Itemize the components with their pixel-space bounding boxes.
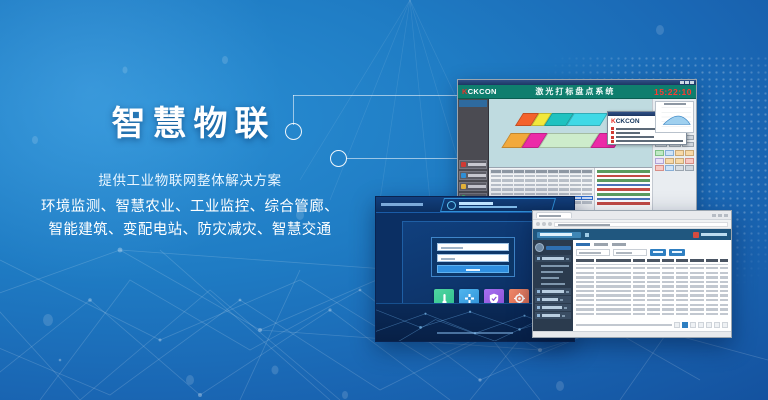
- icon-button[interactable]: [665, 158, 674, 164]
- pagination-summary: [576, 324, 672, 326]
- log-line: [597, 193, 650, 196]
- ckcon-logo: KCKCON: [462, 87, 497, 96]
- table-row[interactable]: [576, 290, 728, 292]
- log-line: [597, 188, 650, 191]
- status-icon-blue: [461, 173, 466, 178]
- icon-button[interactable]: [655, 158, 664, 164]
- browser-tab[interactable]: [536, 212, 572, 218]
- topbar-left-label: [381, 203, 423, 206]
- log-line: [597, 202, 650, 205]
- page-1[interactable]: [682, 322, 688, 328]
- icon-button[interactable]: [665, 165, 674, 171]
- reset-button[interactable]: [669, 249, 685, 256]
- tab-history[interactable]: [612, 243, 626, 246]
- table-row[interactable]: [576, 294, 728, 296]
- table-row[interactable]: [576, 313, 728, 315]
- browser-sidebar[interactable]: [533, 240, 573, 331]
- table-row[interactable]: [576, 272, 728, 274]
- banner-line-1: 环境监测、智慧农业、工业监控、综合管廊、: [0, 196, 380, 219]
- nav-group-device[interactable]: [535, 255, 571, 287]
- page-5[interactable]: [714, 322, 720, 328]
- system-title: 激光打标盘点系统: [535, 86, 615, 97]
- reload-icon[interactable]: [548, 222, 552, 226]
- bullet-icon: [611, 140, 614, 143]
- platform-name: [459, 202, 493, 205]
- icon-button[interactable]: [655, 150, 664, 156]
- laser-control-panel[interactable]: [652, 99, 696, 214]
- sidebar-button-2[interactable]: [459, 171, 487, 180]
- sidebar-header: [459, 100, 487, 107]
- back-icon[interactable]: [536, 222, 540, 226]
- username-input[interactable]: [437, 243, 509, 251]
- chevron-right-icon: [564, 307, 567, 309]
- browser-statusbar: [533, 331, 731, 337]
- app-header: KCKCON 激光打标盘点系统 15:22:10: [458, 85, 696, 99]
- page-4[interactable]: [706, 322, 712, 328]
- chevron-right-icon: [566, 291, 569, 293]
- log-line: [597, 175, 650, 178]
- folder-icon: [537, 290, 540, 293]
- dialog-row: [608, 136, 686, 139]
- tab-list[interactable]: [576, 243, 590, 246]
- table-row[interactable]: [576, 285, 728, 287]
- query-button[interactable]: [650, 249, 666, 256]
- current-user[interactable]: [693, 232, 727, 238]
- chevron-right-icon: [562, 315, 565, 317]
- dialog-row: [608, 140, 686, 143]
- forward-icon[interactable]: [542, 222, 546, 226]
- event-log-panel[interactable]: [594, 168, 652, 214]
- table-row[interactable]: [576, 304, 728, 306]
- icon-button[interactable]: [675, 150, 684, 156]
- log-line: [597, 179, 650, 182]
- table-row[interactable]: [576, 299, 728, 301]
- folder-icon: [537, 306, 540, 309]
- logo-text: CKCON: [468, 87, 497, 96]
- table-header: [576, 259, 728, 265]
- clock-display: 15:22:10: [654, 87, 692, 97]
- monitor-browser[interactable]: [532, 210, 732, 338]
- bullet-icon: [611, 131, 614, 134]
- app-topbar: [533, 229, 731, 240]
- folder-icon: [537, 314, 540, 317]
- page-3[interactable]: [698, 322, 704, 328]
- monitor-laser-system[interactable]: KCKCON 激光打标盘点系统 15:22:10: [457, 79, 697, 215]
- app-brand-badge: [537, 232, 581, 238]
- nav-group-data[interactable]: [535, 288, 571, 295]
- icon-button[interactable]: [675, 165, 684, 171]
- address-bar[interactable]: [533, 220, 731, 229]
- bullet-icon: [611, 136, 614, 139]
- user-profile[interactable]: [535, 243, 571, 252]
- promo-banner: 智慧物联 提供工业物联网整体解决方案 环境监测、智慧农业、工业监控、综合管廊、 …: [0, 0, 768, 400]
- icon-button[interactable]: [685, 165, 694, 171]
- page-2[interactable]: [690, 322, 696, 328]
- icon-button[interactable]: [655, 165, 664, 171]
- nav-group-system[interactable]: [535, 312, 571, 319]
- table-row[interactable]: [576, 267, 728, 269]
- avatar: [693, 232, 699, 238]
- banner-subtitle: 提供工业物联网整体解决方案: [0, 169, 380, 189]
- page-next[interactable]: [722, 322, 728, 328]
- page-prev[interactable]: [674, 322, 680, 328]
- icon-button[interactable]: [685, 150, 694, 156]
- close-icon[interactable]: [724, 214, 728, 217]
- data-table[interactable]: [576, 259, 728, 320]
- user-name: [701, 233, 727, 236]
- browser-chrome: [533, 211, 731, 220]
- folder-icon: [537, 298, 540, 301]
- trend-chart: [655, 101, 694, 133]
- banner-copy: 智慧物联 提供工业物联网整体解决方案 环境监测、智慧农业、工业监控、综合管廊、 …: [0, 96, 380, 243]
- log-line: [597, 198, 650, 201]
- nav-item[interactable]: [535, 281, 571, 287]
- tab-detail[interactable]: [594, 243, 608, 246]
- login-form[interactable]: [431, 237, 515, 277]
- table-row[interactable]: [576, 308, 728, 310]
- close-icon[interactable]: [690, 81, 694, 84]
- log-line: [597, 170, 650, 173]
- maximize-icon[interactable]: [718, 214, 722, 217]
- address-input[interactable]: [554, 222, 728, 227]
- table-row[interactable]: [576, 276, 728, 278]
- icon-button-grid[interactable]: [655, 150, 694, 171]
- minimize-icon[interactable]: [680, 81, 684, 84]
- gear-icon: [447, 201, 456, 210]
- bullet-icon: [611, 127, 614, 130]
- layout-stage: KCKCON: [489, 99, 652, 167]
- status-icon-red: [461, 162, 466, 167]
- page-title: 智慧物联: [0, 96, 380, 145]
- password-input[interactable]: [437, 254, 509, 262]
- status-icon-yellow: [461, 184, 466, 189]
- content-tabs[interactable]: [576, 243, 728, 246]
- search-input-2[interactable]: [613, 249, 647, 256]
- chevron-down-icon: [566, 258, 569, 260]
- filter-toolbar[interactable]: [576, 249, 728, 256]
- profile-label: [546, 246, 571, 250]
- search-input-1[interactable]: [576, 249, 610, 256]
- icon-button[interactable]: [685, 158, 694, 164]
- nav-group-alarm[interactable]: [535, 296, 571, 303]
- chevron-right-icon: [560, 299, 563, 301]
- icon-button[interactable]: [675, 158, 684, 164]
- platform-subname: [459, 206, 517, 208]
- icon-button[interactable]: [665, 150, 674, 156]
- sidebar-button-3[interactable]: [459, 182, 487, 191]
- maximize-icon[interactable]: [685, 81, 689, 84]
- avatar: [535, 243, 544, 252]
- banner-line-2: 智能建筑、变配电站、防灾减灾、智慧交通: [0, 219, 380, 242]
- menu-icon[interactable]: [585, 233, 589, 237]
- pagination[interactable]: [576, 322, 728, 328]
- sidebar-button-1[interactable]: [459, 160, 487, 169]
- band-top-4: [566, 113, 608, 126]
- table-row[interactable]: [576, 281, 728, 283]
- login-button[interactable]: [437, 265, 509, 273]
- content-area: [573, 240, 731, 331]
- minimize-icon[interactable]: [712, 214, 716, 217]
- folder-icon: [537, 257, 540, 260]
- log-line: [597, 184, 650, 187]
- nav-group-report[interactable]: [535, 304, 571, 311]
